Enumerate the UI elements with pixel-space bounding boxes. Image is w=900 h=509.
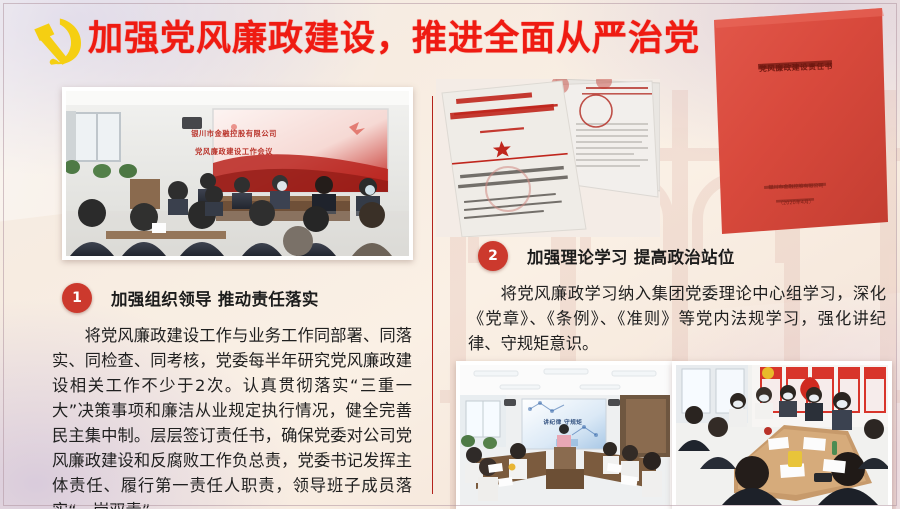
section-1-body: 将党风廉政建设工作与业务工作同部署、同落实、同检查、同考核，党委每半年研究党风廉… bbox=[52, 323, 412, 509]
party-emblem-icon bbox=[24, 16, 86, 66]
right-column: 党风廉政建设责任书 银川市金融控股有限公司 （2020年4月） 2 加强理论学习… bbox=[432, 78, 900, 509]
section-2-heading: 加强理论学习 提高政治站位 bbox=[527, 244, 735, 268]
training-screen-caption: 讲纪律 守规矩 bbox=[543, 418, 582, 426]
section-1-header: 1 加强组织领导 推动责任落实 bbox=[62, 283, 319, 313]
photo-documents bbox=[436, 79, 660, 237]
photo-screen-caption-line1: 银川市金融控股有限公司 bbox=[191, 129, 277, 139]
page-title: 加强党风廉政建设，推进全面从严治党 bbox=[88, 13, 778, 65]
section-1-heading: 加强组织领导 推动责任落实 bbox=[111, 286, 319, 310]
photo-meeting-main: 银川市金融控股有限公司 党风廉政建设工作会议 bbox=[62, 87, 413, 260]
redbook-title: 党风廉政建设责任书 bbox=[759, 60, 833, 74]
section-1-number-badge: 1 bbox=[62, 283, 92, 313]
photo-screen-caption-line2: 党风廉政建设工作会议 bbox=[195, 147, 273, 157]
left-column: 银川市金融控股有限公司 党风廉政建设工作会议 1 加强组织领导 推动责任落实 将… bbox=[0, 78, 432, 509]
photo-discussion-meeting bbox=[672, 361, 892, 509]
photo-training-meeting: 讲纪律 守规矩 bbox=[456, 361, 674, 509]
redbook-date: （2020年4月） bbox=[778, 198, 814, 206]
section-2-body: 将党风廉政学习纳入集团党委理论中心组学习，深化《党章》、《条例》、《准则》等党内… bbox=[468, 281, 886, 356]
section-2-number-badge: 2 bbox=[478, 241, 508, 271]
section-2-header: 2 加强理论学习 提高政治站位 bbox=[478, 241, 735, 271]
slide-root: 加强党风廉政建设，推进全面从严治党 bbox=[0, 0, 900, 509]
photo-red-responsibility-book: 党风廉政建设责任书 银川市金融控股有限公司 （2020年4月） bbox=[700, 6, 892, 238]
